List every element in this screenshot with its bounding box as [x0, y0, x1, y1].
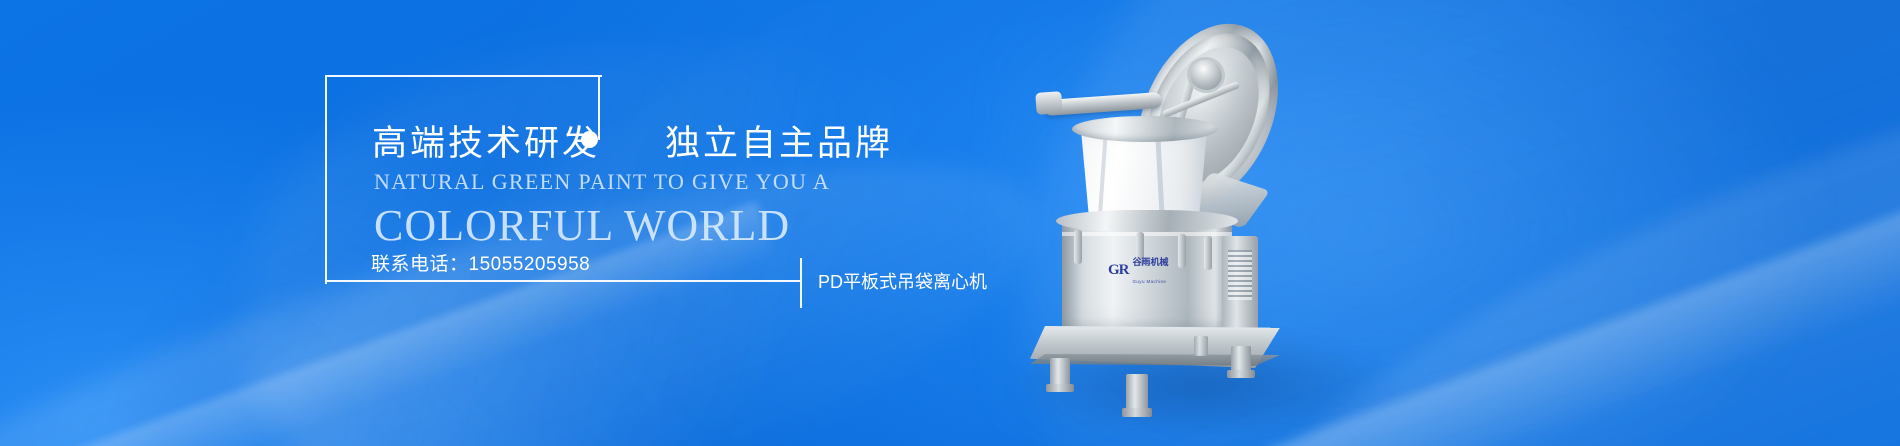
product-image-centrifuge: GR 谷雨机械 Guyu Machine: [1026, 18, 1356, 430]
hero-banner: 高端技术研发独立自主品牌 NATURAL GREEN PAINT TO GIVE…: [0, 0, 1900, 446]
machine-clamp-4: [1204, 236, 1212, 270]
machine-foot-front: [1122, 408, 1152, 417]
machine-foot-left: [1046, 384, 1074, 392]
banner-headline: 高端技术研发独立自主品牌: [372, 115, 893, 166]
machine-clamp-1: [1074, 230, 1082, 264]
headline-segment-2: 独立自主品牌: [665, 124, 893, 163]
headline-segment-1: 高端技术研发: [372, 124, 600, 163]
banner-subtitle-en: NATURAL GREEN PAINT TO GIVE YOU A: [374, 169, 830, 195]
logo-text-en: Guyu Machine: [1133, 279, 1167, 284]
machine-control-box-grill: [1228, 250, 1252, 300]
logo-text-cn: 谷雨机械: [1133, 257, 1169, 267]
machine-leg-left: [1050, 358, 1070, 386]
caption-accent-bar: [800, 258, 802, 308]
logo-mark-gr: GR: [1108, 263, 1129, 278]
contact-phone: 联系电话：15055205958: [371, 249, 590, 276]
product-caption: PD平板式吊袋离心机: [818, 268, 987, 294]
decorative-frame-bottom-line: [325, 280, 800, 282]
machine-handle-knob: [1035, 91, 1062, 115]
machine-leg-rear: [1194, 336, 1208, 356]
machine-clamp-3: [1178, 234, 1186, 268]
machine-brand-logo: GR 谷雨机械 Guyu Machine: [1108, 260, 1170, 280]
machine-leg-right: [1231, 346, 1251, 372]
machine-leg-front: [1126, 374, 1148, 410]
machine-bag-collar: [1072, 116, 1218, 142]
machine-foot-right: [1227, 370, 1255, 378]
banner-title-en: COLORFUL WORLD: [374, 200, 790, 251]
machine-drum-lip: [1056, 210, 1238, 232]
